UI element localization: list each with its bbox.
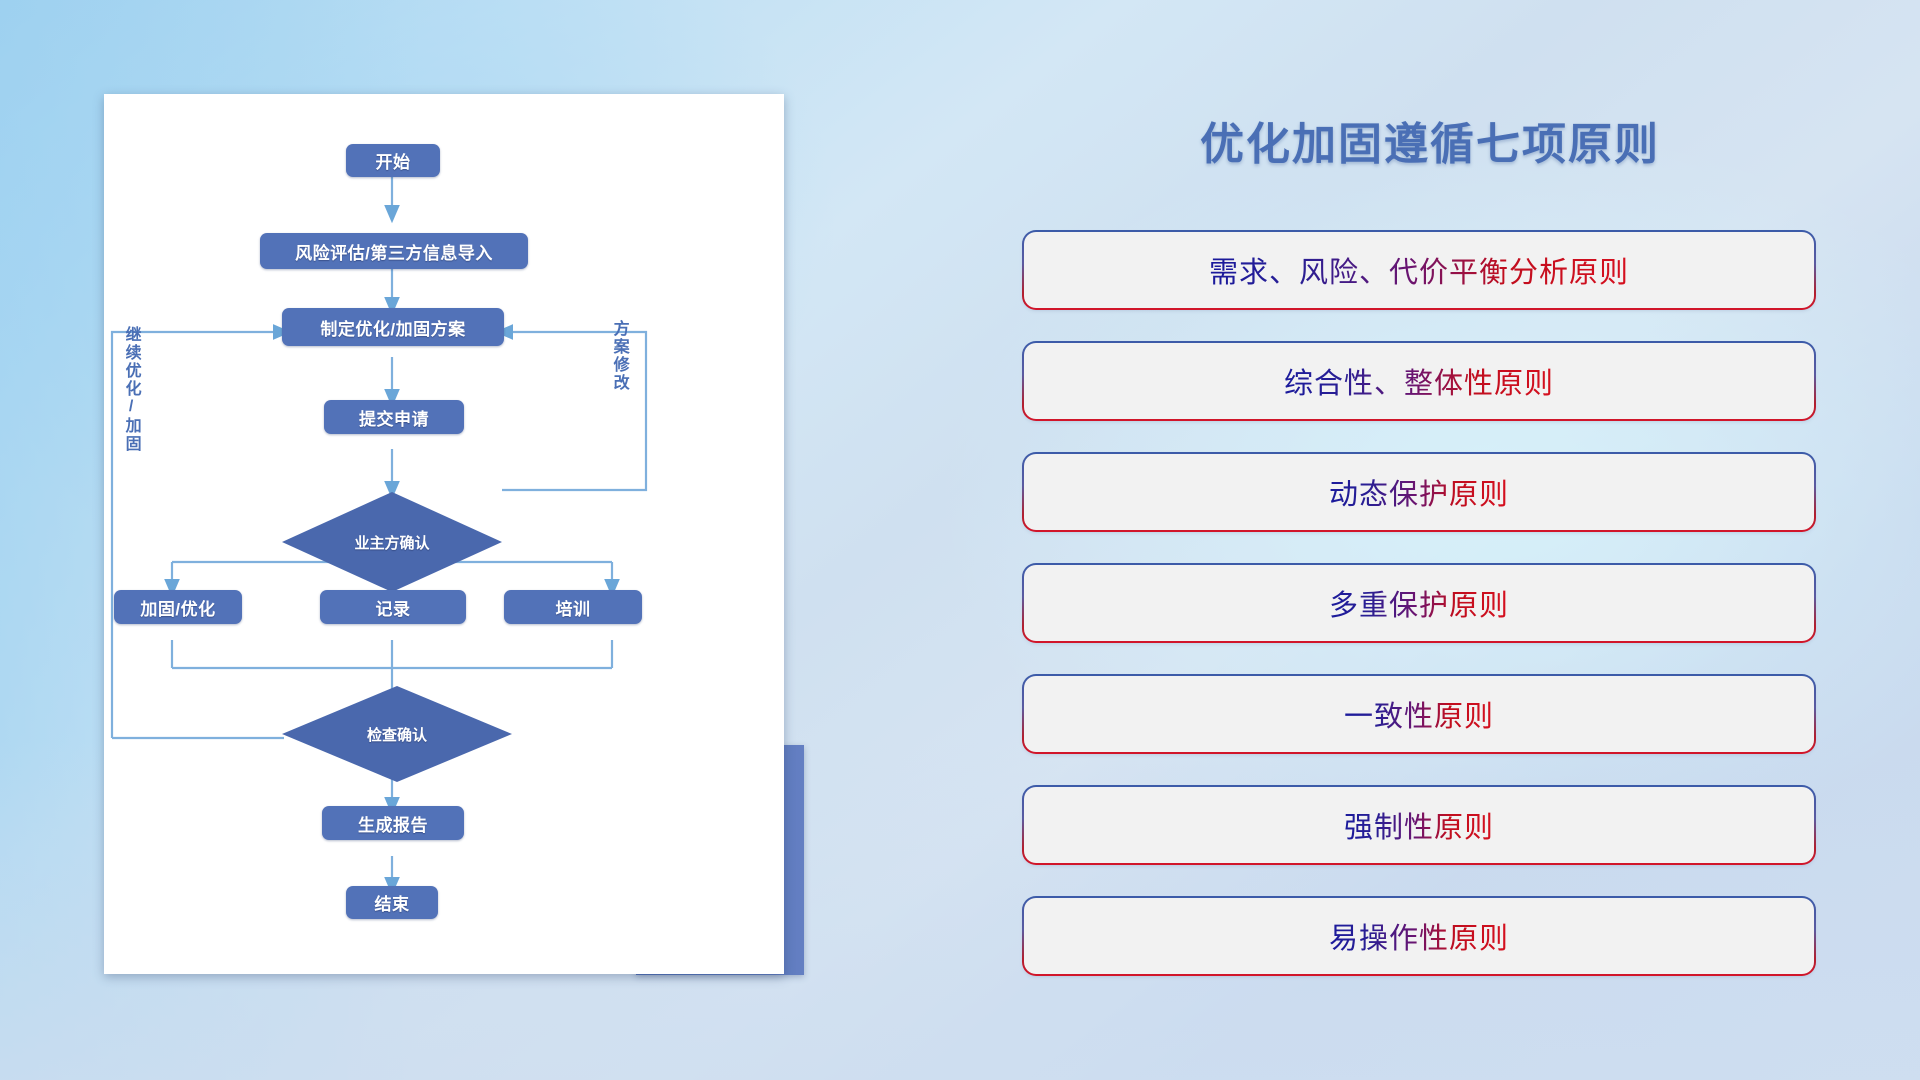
principle-card[interactable]: 强制性原则 xyxy=(1024,787,1814,863)
flowchart-panel: 开始 风险评估/第三方信息导入 制定优化/加固方案 提交申请 业主方确认 加固/… xyxy=(104,94,784,974)
principle-label: 综合性、整体性原则 xyxy=(1284,360,1554,402)
principle-label: 一致性原则 xyxy=(1344,693,1494,735)
principle-card[interactable]: 需求、风险、代价平衡分析原则 xyxy=(1024,232,1814,308)
flow-node-end[interactable]: 结束 xyxy=(346,886,438,919)
principle-label: 易操作性原则 xyxy=(1329,915,1509,957)
principle-card[interactable]: 一致性原则 xyxy=(1024,676,1814,752)
principle-card[interactable]: 多重保护原则 xyxy=(1024,565,1814,641)
flow-node-label: 开始 xyxy=(376,148,411,173)
flow-node-start[interactable]: 开始 xyxy=(346,144,440,177)
flow-node-label: 提交申请 xyxy=(359,405,429,430)
flow-node-label: 加固/优化 xyxy=(140,595,215,620)
flow-node-risk-assessment[interactable]: 风险评估/第三方信息导入 xyxy=(260,233,528,269)
flow-node-make-plan[interactable]: 制定优化/加固方案 xyxy=(282,308,504,346)
page-title: 优化加固遵循七项原则 xyxy=(1030,108,1830,172)
principle-label: 强制性原则 xyxy=(1344,804,1494,846)
flow-node-submit-application[interactable]: 提交申请 xyxy=(324,400,464,434)
flow-node-label: 制定优化/加固方案 xyxy=(320,315,465,340)
flow-node-training[interactable]: 培训 xyxy=(504,590,642,624)
flow-node-label: 业主方确认 xyxy=(354,532,429,553)
flow-label-continue-optimize: 继续优化/加固 xyxy=(122,326,139,453)
flow-node-label: 结束 xyxy=(375,890,410,915)
principle-label: 动态保护原则 xyxy=(1329,471,1509,513)
principle-label: 多重保护原则 xyxy=(1329,582,1509,624)
flow-node-label: 记录 xyxy=(376,595,411,620)
flow-node-label: 生成报告 xyxy=(358,811,428,836)
principle-card[interactable]: 易操作性原则 xyxy=(1024,898,1814,974)
flow-node-record[interactable]: 记录 xyxy=(320,590,466,624)
slide-canvas: 开始 风险评估/第三方信息导入 制定优化/加固方案 提交申请 业主方确认 加固/… xyxy=(0,0,1920,1080)
flow-node-generate-report[interactable]: 生成报告 xyxy=(322,806,464,840)
flow-node-label: 检查确认 xyxy=(367,724,427,745)
principles-list: 需求、风险、代价平衡分析原则 综合性、整体性原则 动态保护原则 多重保护原则 一… xyxy=(1024,232,1814,1009)
flow-node-label: 风险评估/第三方信息导入 xyxy=(295,239,493,264)
flow-node-label: 培训 xyxy=(556,595,591,620)
principle-card[interactable]: 综合性、整体性原则 xyxy=(1024,343,1814,419)
flow-label-plan-revision: 方案修改 xyxy=(610,320,627,392)
flow-node-reinforce[interactable]: 加固/优化 xyxy=(114,590,242,624)
principle-card[interactable]: 动态保护原则 xyxy=(1024,454,1814,530)
principle-label: 需求、风险、代价平衡分析原则 xyxy=(1209,249,1629,291)
